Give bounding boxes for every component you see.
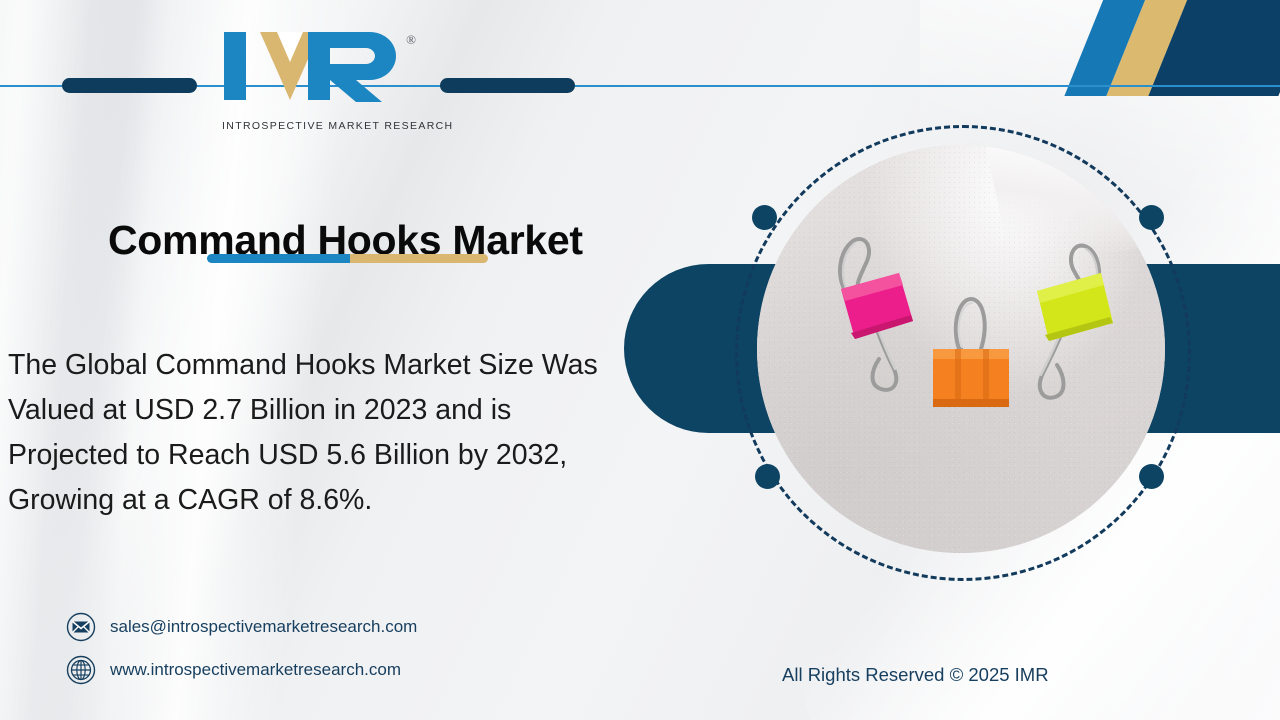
market-report-banner: ® INTROSPECTIVE MARKET RESEARCH Command … xyxy=(0,0,1280,720)
globe-icon xyxy=(66,655,96,685)
contact-email-text[interactable]: sales@introspectivemarketresearch.com xyxy=(110,617,417,637)
lime-binder-clip xyxy=(1009,233,1133,413)
imr-logo-mark: ® xyxy=(222,30,412,102)
imr-logo-tagline: INTROSPECTIVE MARKET RESEARCH xyxy=(222,120,412,132)
registered-trademark-icon: ® xyxy=(406,32,416,48)
corner-stripes-decoration xyxy=(1030,0,1280,96)
copyright-text: All Rights Reserved © 2025 IMR xyxy=(782,664,1049,686)
contact-website-text[interactable]: www.introspectivemarketresearch.com xyxy=(110,660,401,680)
pink-binder-clip xyxy=(819,227,939,407)
header-bar-right xyxy=(440,78,575,93)
market-summary-text: The Global Command Hooks Market Size Was… xyxy=(8,343,620,523)
title-underline xyxy=(207,254,488,263)
contact-website-row[interactable]: www.introspectivemarketresearch.com xyxy=(66,655,401,685)
contact-email-row[interactable]: sales@introspectivemarketresearch.com xyxy=(66,612,417,642)
title-underline-gold xyxy=(350,254,488,263)
title-underline-blue xyxy=(207,254,350,263)
imr-logo-icon xyxy=(222,30,412,102)
envelope-icon xyxy=(66,612,96,642)
header-bar-left xyxy=(62,78,197,93)
imr-logo: ® INTROSPECTIVE MARKET RESEARCH xyxy=(222,30,412,140)
hero-product-image xyxy=(757,145,1165,553)
orange-binder-clip xyxy=(925,287,1021,437)
